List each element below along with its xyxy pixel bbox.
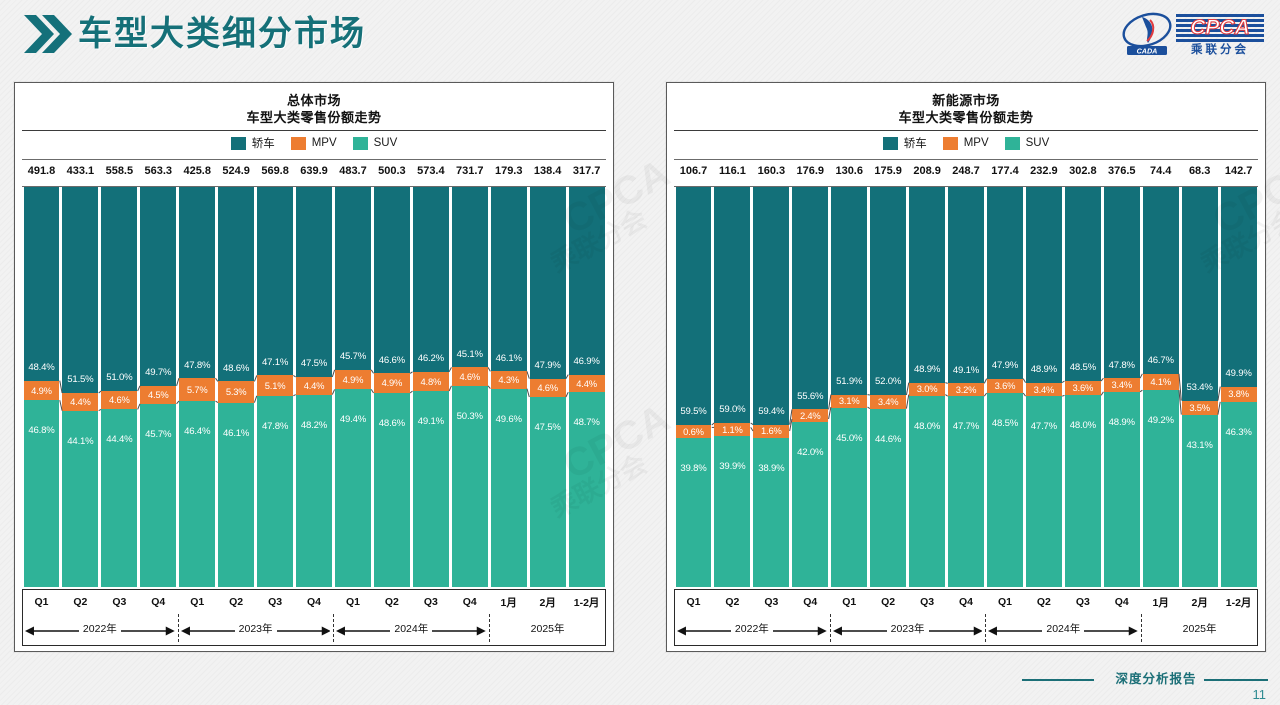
bar-column[interactable]: 59.4%1.6%38.9% [753,187,789,587]
bar-column[interactable]: 48.5%3.6%48.0% [1065,187,1101,587]
segment-car: 48.9% [1026,187,1062,383]
segment-mpv: 4.9% [335,370,371,390]
segment-label-mpv: 3.4% [878,397,899,406]
segment-car: 52.0% [870,187,906,395]
segment-label-mpv: 5.1% [265,381,286,390]
segment-label-car: 59.0% [719,405,745,415]
segment-label-suv: 48.0% [914,422,940,432]
legend-swatch-car [883,137,898,150]
total-value: 232.9 [1024,165,1063,177]
segment-label-mpv: 4.3% [498,375,519,384]
legend-swatch-mpv [943,137,958,150]
segment-label-suv: 47.5% [535,423,561,433]
segment-suv: 49.1% [413,391,449,587]
page-footer: 深度分析报告 11 [0,657,1280,705]
segment-label-suv: 39.8% [680,464,706,474]
segment-label-suv: 42.0% [797,448,823,458]
segment-label-car: 47.5% [301,359,327,369]
segment-mpv: 3.0% [909,383,945,396]
segment-label-mpv: 5.3% [226,387,247,396]
segment-car: 47.9% [987,187,1023,379]
segment-mpv: 4.4% [296,377,332,395]
chart-legend: 轿车MPVSUV [22,131,606,155]
segment-label-suv: 47.7% [1031,422,1057,432]
total-value: 302.8 [1063,165,1102,177]
segment-car: 46.6% [374,187,410,373]
legend-item-suv[interactable]: SUV [1005,137,1050,150]
segment-label-car: 48.5% [1070,363,1096,373]
segment-label-mpv: 4.6% [537,383,558,392]
segment-suv: 46.8% [24,400,60,587]
segment-label-suv: 48.2% [301,421,327,431]
segment-label-car: 48.9% [914,365,940,375]
segment-mpv: 3.8% [1221,387,1257,402]
segment-suv: 49.6% [491,389,527,587]
segment-car: 47.8% [1104,187,1140,378]
total-value: 558.5 [100,165,139,177]
segment-label-mpv: 4.4% [576,379,597,388]
segment-label-car: 48.6% [223,364,249,374]
segment-label-car: 46.7% [1148,356,1174,366]
segment-label-car: 47.9% [535,361,561,371]
page-number: 11 [1253,687,1267,702]
segment-label-mpv: 3.2% [956,385,977,394]
segment-label-mpv: 5.7% [187,385,208,394]
segment-label-suv: 44.4% [106,435,132,445]
bar-column[interactable]: 46.7%4.1%49.2% [1143,187,1179,587]
stacked-bar-plot: 59.5%0.6%39.8%59.0%1.1%39.9%59.4%1.6%38.… [674,187,1258,587]
segment-car: 47.9% [530,187,566,379]
segment-label-suv: 47.7% [953,422,979,432]
segment-label-suv: 49.1% [418,417,444,427]
segment-label-car: 59.4% [758,407,784,417]
chart-panel-overall-market: 总体市场车型大类零售份额走势轿车MPVSUV491.8433.1558.5563… [14,82,614,652]
segment-mpv: 3.6% [1065,381,1101,395]
segment-label-suv: 43.1% [1187,441,1213,451]
segment-suv: 47.7% [948,396,984,587]
segment-mpv: 3.6% [987,379,1023,393]
segment-mpv: 1.6% [753,425,789,438]
bar-column[interactable]: 49.9%3.8%46.3% [1221,187,1257,587]
segment-label-suv: 48.5% [992,419,1018,429]
segment-label-suv: 50.3% [457,412,483,422]
segment-suv: 47.5% [530,397,566,587]
segment-mpv: 4.1% [1143,374,1179,390]
segment-suv: 45.0% [831,408,867,587]
segment-mpv: 4.8% [413,372,449,391]
segment-mpv: 5.3% [218,381,254,402]
bar-column[interactable]: 47.8%5.7%46.4% [179,187,215,587]
segment-label-mpv: 3.8% [1228,389,1249,398]
segment-label-mpv: 4.6% [459,372,480,381]
total-value: 160.3 [752,165,791,177]
legend-label-mpv: MPV [312,137,337,149]
totals-row: 491.8433.1558.5563.3425.8524.9569.8639.9… [22,160,606,182]
segment-label-car: 59.5% [680,407,706,417]
segment-mpv: 3.4% [1026,383,1062,397]
segment-label-suv: 46.8% [28,426,54,436]
segment-suv: 48.9% [1104,392,1140,587]
logo-sub-text: 乘联分会 [1190,42,1249,56]
total-value: 500.3 [372,165,411,177]
axis-year-label: 2023年 [887,621,929,636]
chart-title: 总体市场 [22,89,606,109]
total-value: 175.9 [869,165,908,177]
segment-label-car: 49.7% [145,368,171,378]
segment-label-car: 48.9% [1031,365,1057,375]
segment-mpv: 1.1% [714,423,750,436]
segment-label-mpv: 1.6% [761,426,782,435]
segment-car: 47.8% [179,187,215,378]
segment-label-mpv: 3.4% [1034,385,1055,394]
segment-mpv: 4.4% [569,375,605,393]
total-value: 317.7 [567,165,606,177]
total-value: 573.4 [411,165,450,177]
segment-label-car: 45.1% [457,350,483,360]
total-value: 177.4 [986,165,1025,177]
total-value: 68.3 [1180,165,1219,177]
bar-column[interactable]: 53.4%3.5%43.1% [1182,187,1218,587]
bar-column[interactable]: 52.0%3.4%44.6% [870,187,906,587]
page-header: 车型大类细分市场 CADA CPCA 乘联分会 [0,0,1280,68]
total-value: 74.4 [1141,165,1180,177]
segment-mpv: 4.9% [374,373,410,393]
segment-car: 48.9% [909,187,945,383]
segment-suv: 48.2% [296,395,332,587]
segment-mpv: 5.1% [257,375,293,395]
segment-label-mpv: 3.1% [839,396,860,405]
segment-label-mpv: 4.9% [343,375,364,384]
segment-label-car: 49.9% [1225,369,1251,379]
bar-column[interactable]: 46.6%4.9%48.6% [374,187,410,587]
segment-mpv: 4.4% [62,393,98,411]
axis-year-label: 2023年 [235,621,277,636]
segment-mpv: 4.6% [101,391,137,409]
segment-label-mpv: 2.4% [800,411,821,420]
legend-label-car: 轿车 [252,135,275,151]
double-chevron-right-icon [22,12,74,56]
total-value: 491.8 [22,165,61,177]
bar-column[interactable]: 48.9%3.0%48.0% [909,187,945,587]
stacked-bar-plot: 48.4%4.9%46.8%51.5%4.4%44.1%51.0%4.6%44.… [22,187,606,587]
segment-label-suv: 45.7% [145,430,171,440]
segment-label-car: 46.9% [573,357,599,367]
total-value: 524.9 [217,165,256,177]
segment-label-mpv: 4.1% [1150,377,1171,386]
total-value: 563.3 [139,165,178,177]
segment-suv: 49.4% [335,389,371,587]
segment-mpv: 3.1% [831,395,867,408]
segment-label-car: 47.1% [262,358,288,368]
segment-car: 51.0% [101,187,137,391]
segment-suv: 47.7% [1026,396,1062,587]
segment-label-mpv: 3.4% [1111,380,1132,389]
legend-item-car[interactable]: 轿车 [883,135,927,151]
bar-column[interactable]: 47.9%3.6%48.5% [987,187,1023,587]
segment-mpv: 0.6% [676,425,712,438]
segment-mpv: 5.7% [179,378,215,401]
logo-brand-text: CPCA [1190,16,1250,39]
segment-suv: 46.4% [179,401,215,587]
total-value: 639.9 [295,165,334,177]
segment-suv: 46.1% [218,403,254,587]
axis-frame [22,590,606,646]
segment-car: 47.1% [257,187,293,375]
total-value: 425.8 [178,165,217,177]
segment-label-suv: 49.2% [1148,416,1174,426]
axis-year-label: 2022年 [731,621,773,636]
total-value: 569.8 [256,165,295,177]
chart-subtitle: 车型大类零售份额走势 [674,109,1258,126]
legend-label-suv: SUV [1026,137,1050,149]
segment-label-car: 46.1% [496,354,522,364]
segment-label-mpv: 0.6% [683,427,704,436]
segment-label-car: 51.5% [67,375,93,385]
segment-suv: 44.4% [101,409,137,587]
segment-mpv: 2.4% [792,409,828,422]
segment-label-car: 55.6% [797,392,823,402]
segment-label-mpv: 3.5% [1189,403,1210,412]
axis-frame [674,590,1258,646]
segment-car: 55.6% [792,187,828,409]
segment-suv: 47.8% [257,396,293,587]
segment-suv: 46.3% [1221,402,1257,587]
segment-car: 48.5% [1065,187,1101,381]
segment-label-suv: 46.3% [1225,428,1251,438]
axis-year-label: 2024年 [1042,621,1084,636]
footer-rule-right [1204,679,1268,681]
total-value: 376.5 [1102,165,1141,177]
bar-column[interactable]: 47.8%3.4%48.9% [1104,187,1140,587]
segment-label-suv: 46.4% [184,427,210,437]
category-axis: Q1Q2Q3Q4Q1Q2Q3Q4Q1Q2Q3Q41月2月1-2月2022年202… [674,589,1258,646]
segment-label-car: 52.0% [875,377,901,387]
segment-mpv: 3.2% [948,383,984,396]
segment-label-suv: 49.6% [496,415,522,425]
bar-column[interactable]: 48.9%3.4%47.7% [1026,187,1062,587]
segment-label-suv: 48.7% [573,418,599,428]
segment-mpv: 4.6% [530,379,566,397]
segment-suv: 48.5% [987,393,1023,587]
legend-label-suv: SUV [374,137,398,149]
bar-column[interactable]: 49.7%4.5%45.7% [140,187,176,587]
chart-title: 新能源市场 [674,89,1258,109]
chart-panel-nev-market: 新能源市场车型大类零售份额走势轿车MPVSUV106.7116.1160.317… [666,82,1266,652]
segment-label-suv: 46.1% [223,429,249,439]
segment-label-mpv: 4.9% [382,378,403,387]
segment-label-mpv: 4.9% [31,386,52,395]
bar-column[interactable]: 46.9%4.4%48.7% [569,187,605,587]
segment-car: 51.9% [831,187,867,395]
segment-car: 49.1% [948,187,984,383]
segment-suv: 44.1% [62,411,98,587]
segment-label-car: 47.8% [1109,361,1135,371]
segment-label-mpv: 3.6% [995,381,1016,390]
axis-year-label: 2025年 [1179,621,1221,636]
legend-item-mpv[interactable]: MPV [291,137,337,150]
segment-label-suv: 44.1% [67,437,93,447]
axis-year-label: 2022年 [79,621,121,636]
legend-swatch-mpv [291,137,306,150]
segment-suv: 50.3% [452,386,488,587]
bar-column[interactable]: 48.6%5.3%46.1% [218,187,254,587]
legend-swatch-suv [1005,137,1020,150]
segment-mpv: 4.3% [491,371,527,388]
legend-swatch-car [231,137,246,150]
legend-label-car: 轿车 [904,135,927,151]
segment-label-suv: 45.0% [836,434,862,444]
bar-column[interactable]: 55.6%2.4%42.0% [792,187,828,587]
segment-suv: 48.0% [1065,395,1101,587]
bar-column[interactable]: 59.0%1.1%39.9% [714,187,750,587]
segment-suv: 42.0% [792,422,828,587]
bar-column[interactable]: 51.9%3.1%45.0% [831,187,867,587]
segment-mpv: 3.5% [1182,401,1218,415]
segment-label-car: 53.4% [1187,383,1213,393]
total-value: 106.7 [674,165,713,177]
segment-label-car: 46.2% [418,354,444,364]
segment-car: 46.2% [413,187,449,372]
segment-car: 53.4% [1182,187,1218,401]
segment-car: 48.4% [24,187,60,381]
segment-mpv: 4.6% [452,367,488,385]
segment-car: 45.7% [335,187,371,370]
bar-column[interactable]: 47.1%5.1%47.8% [257,187,293,587]
segment-car: 59.5% [676,187,712,425]
chart-subtitle: 车型大类零售份额走势 [22,109,606,126]
segment-label-car: 45.7% [340,352,366,362]
segment-suv: 44.6% [870,409,906,587]
bar-column[interactable]: 45.1%4.6%50.3% [452,187,488,587]
total-value: 176.9 [791,165,830,177]
segment-label-car: 46.6% [379,356,405,366]
segment-car: 49.7% [140,187,176,386]
bar-column[interactable]: 51.0%4.6%44.4% [101,187,137,587]
segment-suv: 38.9% [753,438,789,587]
legend-item-car[interactable]: 轿车 [231,135,275,151]
bar-column[interactable]: 47.5%4.4%48.2% [296,187,332,587]
segment-car: 46.7% [1143,187,1179,374]
segment-label-car: 51.0% [106,373,132,383]
segment-label-car: 47.9% [992,361,1018,371]
legend-label-mpv: MPV [964,137,989,149]
segment-suv: 49.2% [1143,390,1179,587]
bar-column[interactable]: 49.1%3.2%47.7% [948,187,984,587]
axis-year-label: 2025年 [527,621,569,636]
segment-car: 47.5% [296,187,332,377]
segment-label-mpv: 4.4% [70,397,91,406]
chart-legend: 轿车MPVSUV [674,131,1258,155]
segment-label-suv: 39.9% [719,462,745,472]
segment-label-mpv: 3.6% [1073,383,1094,392]
total-value: 130.6 [830,165,869,177]
segment-suv: 48.0% [909,396,945,587]
cpca-logo: CADA CPCA 乘联分会 [1120,8,1268,58]
segment-car: 45.1% [452,187,488,367]
legend-item-mpv[interactable]: MPV [943,137,989,150]
bar-column[interactable]: 47.9%4.6%47.5% [530,187,566,587]
segment-label-mpv: 4.4% [304,381,325,390]
segment-car: 51.5% [62,187,98,393]
totals-row: 106.7116.1160.3176.9130.6175.9208.9248.7… [674,160,1258,182]
segment-label-suv: 48.0% [1070,421,1096,431]
segment-mpv: 4.5% [140,386,176,404]
segment-suv: 39.9% [714,436,750,587]
footer-rule-left [1022,679,1094,681]
segment-label-mpv: 3.0% [917,384,938,393]
legend-item-suv[interactable]: SUV [353,137,398,150]
segment-mpv: 3.4% [870,395,906,409]
segment-suv: 48.7% [569,392,605,587]
total-value: 116.1 [713,165,752,177]
bar-column[interactable]: 45.7%4.9%49.4% [335,187,371,587]
segment-suv: 43.1% [1182,415,1218,587]
segment-car: 46.9% [569,187,605,375]
segment-car: 59.0% [714,187,750,423]
segment-label-suv: 49.4% [340,415,366,425]
segment-car: 46.1% [491,187,527,371]
segment-mpv: 4.9% [24,381,60,401]
segment-label-car: 48.4% [28,363,54,373]
total-value: 142.7 [1219,165,1258,177]
segment-suv: 39.8% [676,438,712,587]
total-value: 179.3 [489,165,528,177]
segment-label-mpv: 4.6% [109,395,130,404]
footer-label: 深度分析报告 [1114,668,1198,687]
total-value: 248.7 [947,165,986,177]
total-value: 208.9 [908,165,947,177]
segment-label-suv: 44.6% [875,435,901,445]
bar-column[interactable]: 59.5%0.6%39.8% [676,187,712,587]
bar-column[interactable]: 46.1%4.3%49.6% [491,187,527,587]
segment-suv: 48.6% [374,393,410,587]
bar-column[interactable]: 51.5%4.4%44.1% [62,187,98,587]
svg-text:CADA: CADA [1137,46,1158,55]
segment-label-car: 47.8% [184,361,210,371]
category-axis: Q1Q2Q3Q4Q1Q2Q3Q4Q1Q2Q3Q41月2月1-2月2022年202… [22,589,606,646]
total-value: 731.7 [450,165,489,177]
segment-mpv: 3.4% [1104,378,1140,392]
legend-swatch-suv [353,137,368,150]
total-value: 483.7 [334,165,373,177]
segment-label-mpv: 4.8% [421,377,442,386]
segment-suv: 45.7% [140,404,176,587]
segment-label-car: 49.1% [953,366,979,376]
segment-car: 48.6% [218,187,254,381]
segment-label-mpv: 1.1% [722,425,743,434]
bar-column[interactable]: 46.2%4.8%49.1% [413,187,449,587]
segment-car: 59.4% [753,187,789,425]
segment-label-suv: 48.6% [379,419,405,429]
segment-label-suv: 48.9% [1109,418,1135,428]
axis-year-label: 2024年 [390,621,432,636]
page-title: 车型大类细分市场 [78,8,366,60]
bar-column[interactable]: 48.4%4.9%46.8% [24,187,60,587]
segment-label-mpv: 4.5% [148,390,169,399]
segment-label-suv: 47.8% [262,422,288,432]
segment-label-suv: 38.9% [758,464,784,474]
segment-car: 49.9% [1221,187,1257,387]
total-value: 433.1 [61,165,100,177]
total-value: 138.4 [528,165,567,177]
segment-label-car: 51.9% [836,377,862,387]
